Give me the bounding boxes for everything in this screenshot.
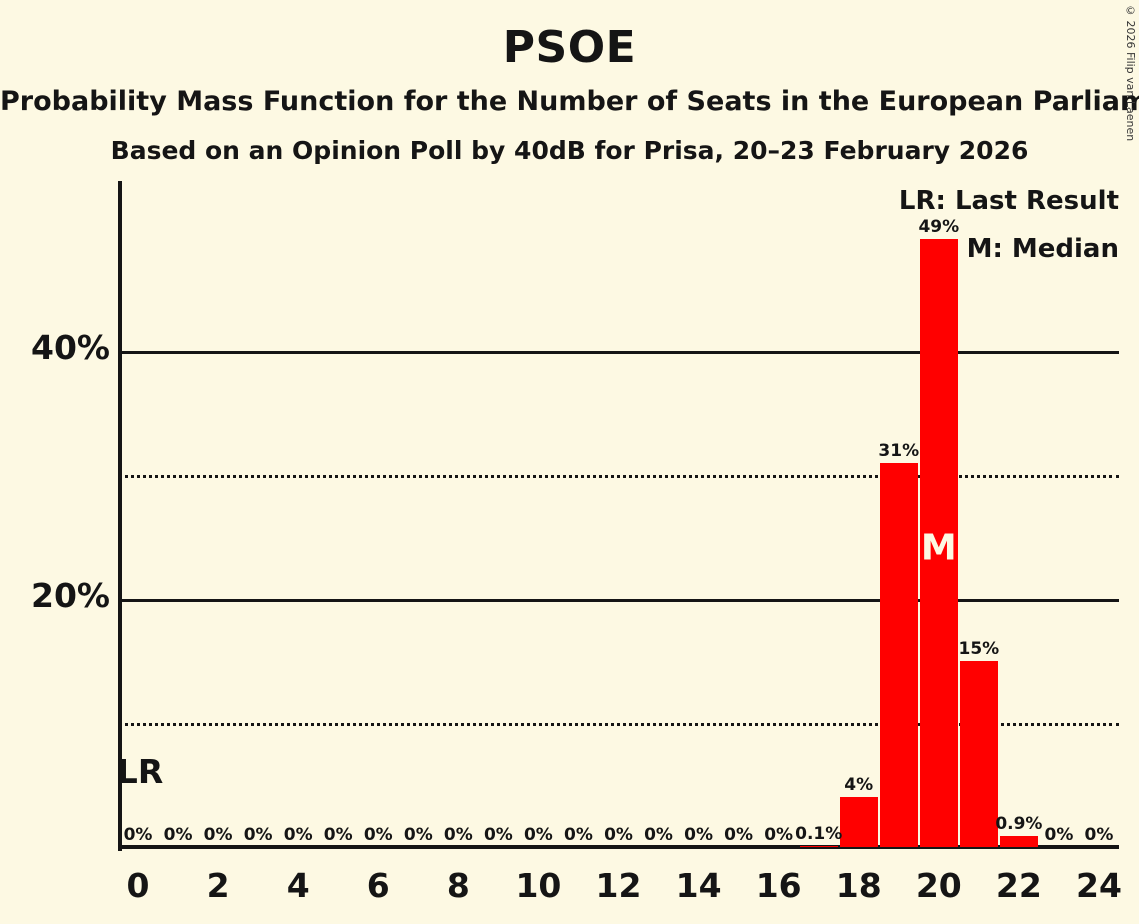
bar-value-label-seat-14: 0%: [684, 825, 713, 845]
bar-value-label-seat-15: 0%: [724, 825, 753, 845]
gridline-dotted-30: [118, 475, 1119, 478]
x-axis-tick-4: 4: [287, 866, 310, 905]
bar-value-label-seat-17: 0.1%: [795, 824, 842, 844]
chart-source-subtitle: Based on an Opinion Poll by 40dB for Pri…: [0, 136, 1139, 165]
x-axis-tick-6: 6: [367, 866, 390, 905]
bar-value-label-seat-6: 0%: [364, 825, 393, 845]
x-axis-tick-18: 18: [836, 866, 882, 905]
bar-value-label-seat-13: 0%: [644, 825, 673, 845]
bar-value-label-seat-18: 4%: [844, 775, 873, 795]
bar-value-label-seat-11: 0%: [564, 825, 593, 845]
bar-value-label-seat-16: 0%: [764, 825, 793, 845]
last-result-marker: LR: [117, 752, 163, 791]
bar-value-label-seat-10: 0%: [524, 825, 553, 845]
x-axis-tick-16: 16: [756, 866, 802, 905]
gridline-solid-20: [118, 599, 1119, 602]
x-axis-tick-12: 12: [596, 866, 642, 905]
gridline-solid-40: [118, 351, 1119, 354]
bar-value-label-seat-1: 0%: [164, 825, 193, 845]
page-title: PSOE: [0, 22, 1139, 73]
bar-value-label-seat-22: 0.9%: [995, 814, 1042, 834]
chart-subtitle: Probability Mass Function for the Number…: [0, 86, 1139, 117]
y-axis-label-40pct: 40%: [0, 328, 110, 367]
bar-value-label-seat-4: 0%: [284, 825, 313, 845]
bar-value-label-seat-5: 0%: [324, 825, 353, 845]
bar-seat-21: [960, 661, 998, 847]
bar-value-label-seat-21: 15%: [959, 639, 1000, 659]
x-axis-tick-22: 22: [996, 866, 1042, 905]
x-axis-tick-2: 2: [207, 866, 230, 905]
x-axis-tick-20: 20: [916, 866, 962, 905]
bar-value-label-seat-12: 0%: [604, 825, 633, 845]
bar-seat-17: [800, 846, 838, 847]
bar-value-label-seat-19: 31%: [878, 441, 919, 461]
y-axis-label-20pct: 20%: [0, 576, 110, 615]
bar-value-label-seat-9: 0%: [484, 825, 513, 845]
chart-page: PSOE Probability Mass Function for the N…: [0, 0, 1139, 924]
bar-value-label-seat-3: 0%: [244, 825, 273, 845]
bar-value-label-seat-8: 0%: [444, 825, 473, 845]
bar-seat-22: [1000, 836, 1038, 847]
plot-area: [118, 181, 1119, 847]
bar-seat-18: [840, 797, 878, 847]
bar-value-label-seat-0: 0%: [124, 825, 153, 845]
bar-value-label-seat-7: 0%: [404, 825, 433, 845]
x-axis-tick-14: 14: [676, 866, 722, 905]
x-axis-tick-24: 24: [1076, 866, 1122, 905]
copyright-notice: © 2026 Filip van Laenen: [1124, 4, 1137, 141]
median-marker: M: [921, 528, 957, 569]
bar-value-label-seat-24: 0%: [1085, 825, 1114, 845]
x-axis-tick-8: 8: [447, 866, 470, 905]
bar-value-label-seat-23: 0%: [1045, 825, 1074, 845]
bar-value-label-seat-2: 0%: [204, 825, 233, 845]
bar-value-label-seat-20: 49%: [918, 217, 959, 237]
x-axis-tick-0: 0: [127, 866, 150, 905]
x-axis-tick-10: 10: [515, 866, 561, 905]
bar-seat-19: [880, 463, 918, 847]
